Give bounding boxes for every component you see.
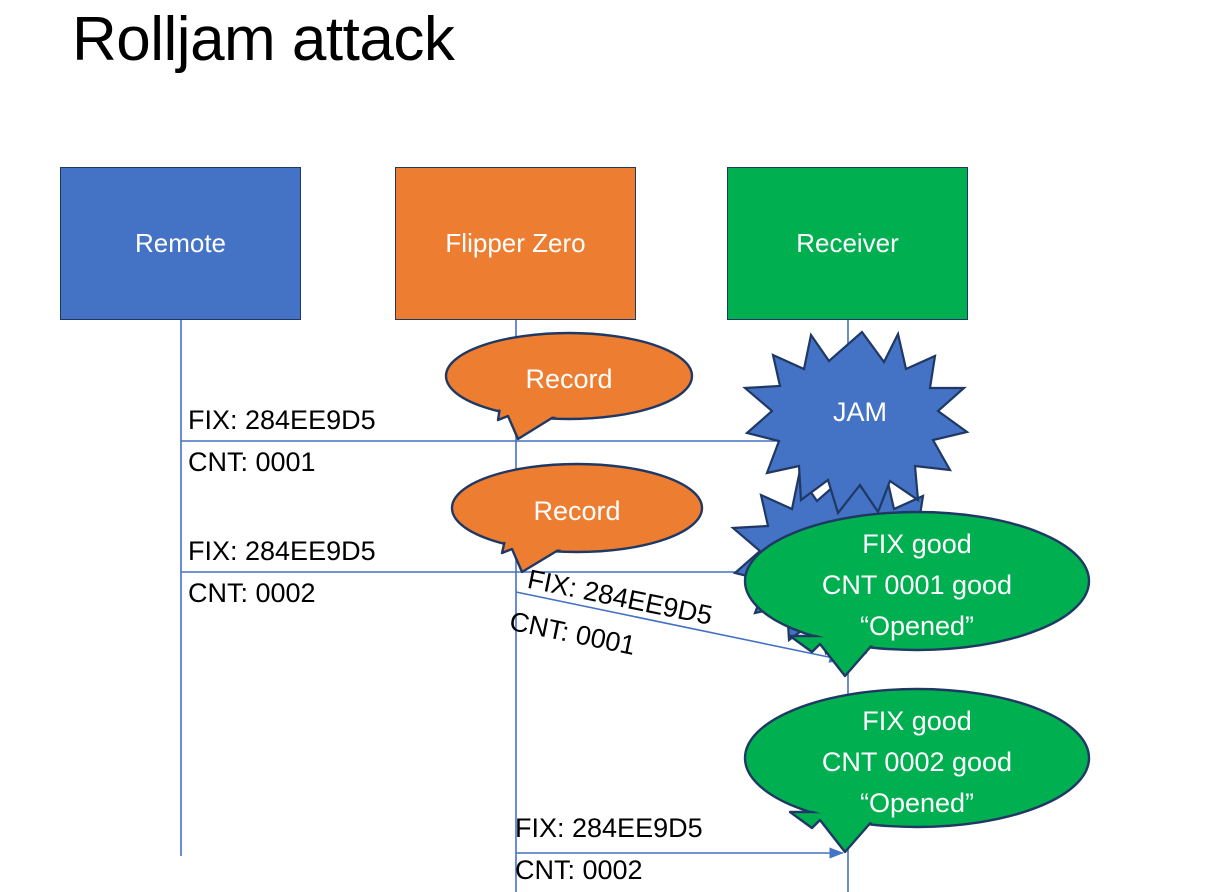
reply-callout-1 <box>745 512 1089 676</box>
message-2-fix-label: FIX: 284EE9D5 <box>188 536 376 568</box>
message-1-fix-label: FIX: 284EE9D5 <box>188 405 376 437</box>
message-1-cnt-label: CNT: 0001 <box>188 447 316 479</box>
diagram-artwork <box>0 0 1231 892</box>
record-callout-1 <box>446 333 692 439</box>
reply-callout-2 <box>745 689 1089 852</box>
actor-label-receiver: Receiver <box>796 229 899 258</box>
jam-starburst-1 <box>745 332 967 513</box>
record-callout-2 <box>452 464 702 572</box>
slide-canvas: Rolljam attack <box>0 0 1231 892</box>
actor-label-remote: Remote <box>135 229 226 258</box>
message-4-cnt-label: CNT: 0002 <box>515 855 643 887</box>
message-4-fix-label: FIX: 284EE9D5 <box>515 813 703 845</box>
message-2-cnt-label: CNT: 0002 <box>188 578 316 610</box>
actor-label-flipper: Flipper Zero <box>445 229 585 258</box>
actor-box-receiver[interactable]: Receiver <box>727 167 968 320</box>
actor-box-flipper[interactable]: Flipper Zero <box>395 167 636 320</box>
actor-box-remote[interactable]: Remote <box>60 167 301 320</box>
